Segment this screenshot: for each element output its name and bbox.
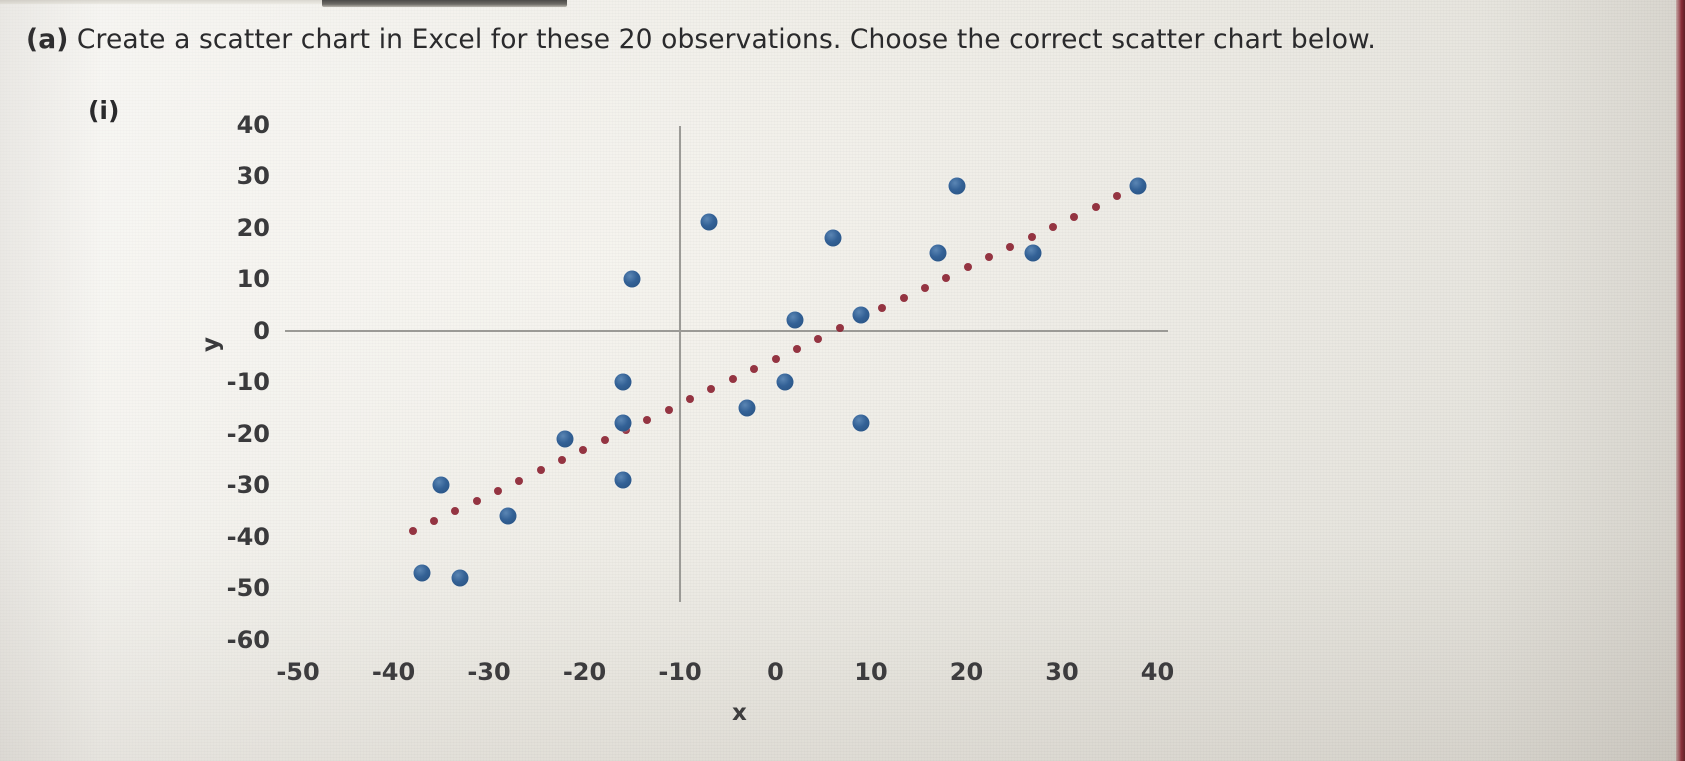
trendline-dot	[942, 274, 950, 282]
trendline-dot	[558, 456, 566, 464]
trendline-dot	[494, 487, 502, 495]
x-tick-label: -20	[563, 658, 606, 686]
trendline-dot	[964, 263, 972, 271]
scatter-point	[777, 374, 794, 391]
x-tick-label: 0	[767, 658, 784, 686]
trendline-dot	[1070, 213, 1078, 221]
trendline-dot	[1028, 233, 1036, 241]
y-tick-label: -50	[227, 574, 270, 602]
x-axis-line	[285, 330, 1168, 332]
y-axis-line	[679, 126, 681, 602]
scatter-point	[929, 245, 946, 262]
scatter-point	[557, 430, 574, 447]
trendline-dot	[473, 497, 481, 505]
scatter-point	[786, 312, 803, 329]
scatter-point	[614, 374, 631, 391]
y-tick-label: 30	[237, 162, 270, 190]
y-tick-label: 0	[253, 317, 270, 345]
scatter-point	[452, 569, 469, 586]
x-tick-label: 10	[854, 658, 887, 686]
scatter-point	[614, 415, 631, 432]
trendline-dot	[836, 324, 844, 332]
scatter-point	[700, 214, 717, 231]
scatter-point	[853, 307, 870, 324]
trendline-dot	[643, 416, 651, 424]
trendline-dot	[729, 375, 737, 383]
y-tick-label: -30	[227, 471, 270, 499]
y-tick-label: 10	[237, 265, 270, 293]
trendline-dot	[772, 355, 780, 363]
x-tick-label: -30	[467, 658, 510, 686]
x-tick-label: -50	[276, 658, 319, 686]
trendline-dot	[1092, 203, 1100, 211]
scatter-point	[624, 271, 641, 288]
trendline-dot	[515, 477, 523, 485]
screenshot-page: (a) Create a scatter chart in Excel for …	[0, 0, 1685, 761]
scatter-point	[824, 229, 841, 246]
trendline-dot	[601, 436, 609, 444]
scatter-point	[738, 399, 755, 416]
scatter-chart: y x 403020100-10-20-30-40-50-60-50-40-30…	[0, 0, 1685, 761]
trendline-dot	[750, 365, 758, 373]
trendline-dot	[1049, 223, 1057, 231]
scatter-point	[614, 471, 631, 488]
y-tick-label: -20	[227, 420, 270, 448]
y-tick-label: 40	[237, 111, 270, 139]
trendline-dot	[451, 507, 459, 515]
scatter-point	[948, 178, 965, 195]
x-tick-label: -10	[658, 658, 701, 686]
trendline-dot	[665, 406, 673, 414]
scatter-point	[414, 564, 431, 581]
x-tick-label: 30	[1045, 658, 1078, 686]
scatter-point	[433, 477, 450, 494]
trendline-dot	[793, 345, 801, 353]
scatter-point	[1025, 245, 1042, 262]
trendline-dot	[814, 335, 822, 343]
x-tick-label: 40	[1141, 658, 1174, 686]
scatter-point	[500, 507, 517, 524]
trendline-dot	[878, 304, 886, 312]
trendline-dot	[1006, 243, 1014, 251]
trendline-dot	[985, 253, 993, 261]
trendline-dot	[707, 385, 715, 393]
scatter-point	[1130, 178, 1147, 195]
y-axis-title: y	[198, 337, 224, 352]
x-axis-title: x	[732, 700, 747, 726]
trendline-dot	[921, 284, 929, 292]
x-tick-label: 20	[950, 658, 983, 686]
trendline-dot	[900, 294, 908, 302]
y-tick-label: -40	[227, 523, 270, 551]
trendline-dot	[537, 466, 545, 474]
y-tick-label: -60	[227, 626, 270, 654]
trendline-dot	[409, 527, 417, 535]
scatter-point	[853, 415, 870, 432]
trendline-dot	[579, 446, 587, 454]
trendline-dot	[686, 395, 694, 403]
y-tick-label: -10	[227, 368, 270, 396]
trendline-dot	[1113, 192, 1121, 200]
trendline-dot	[430, 517, 438, 525]
x-tick-label: -40	[372, 658, 415, 686]
y-tick-label: 20	[237, 214, 270, 242]
